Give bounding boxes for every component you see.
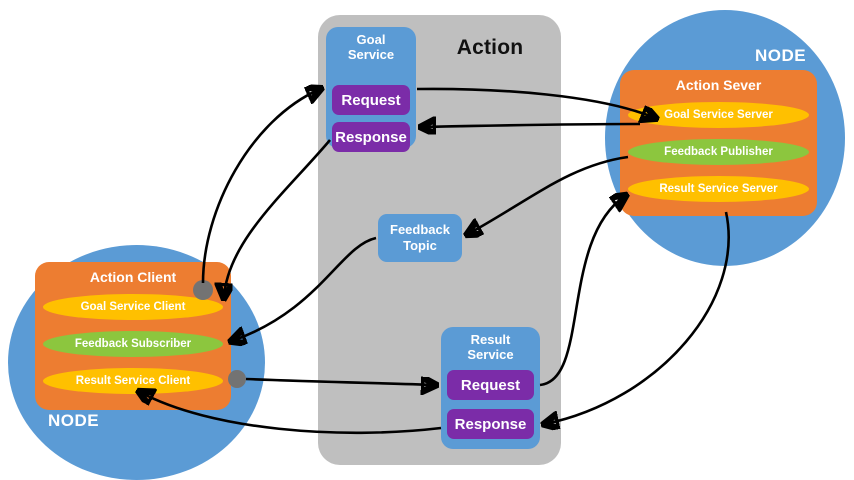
goal-service-server[interactable]: Goal Service Server bbox=[628, 102, 809, 128]
action-title: Action bbox=[430, 36, 550, 60]
goal-service-box: Goal Service Request Response bbox=[326, 27, 416, 148]
diagram-canvas: Action NODE Action Client Goal Service C… bbox=[0, 0, 854, 480]
action-server-title: Action Sever bbox=[620, 77, 817, 93]
result-client-connector-dot bbox=[228, 370, 246, 388]
result-service-title: Result Service bbox=[441, 332, 540, 363]
result-service-box: Result Service Request Response bbox=[441, 327, 540, 449]
goal-service-title-line2: Service bbox=[348, 47, 394, 62]
result-service-title-line1: Result bbox=[471, 332, 511, 347]
goal-service-request[interactable]: Request bbox=[332, 85, 410, 115]
goal-service-title-line1: Goal bbox=[357, 32, 386, 47]
feedback-topic-line2: Topic bbox=[403, 238, 437, 254]
result-service-client[interactable]: Result Service Client bbox=[43, 368, 223, 394]
feedback-publisher[interactable]: Feedback Publisher bbox=[628, 139, 809, 165]
goal-client-connector-dot bbox=[193, 280, 213, 300]
client-node-label: NODE bbox=[48, 411, 99, 431]
arrow-goal-response-to-client bbox=[224, 140, 330, 297]
result-service-request[interactable]: Request bbox=[447, 370, 534, 400]
feedback-topic-box[interactable]: Feedback Topic bbox=[378, 214, 462, 262]
result-service-title-line2: Service bbox=[467, 347, 513, 362]
feedback-topic-line1: Feedback bbox=[390, 222, 450, 238]
feedback-subscriber[interactable]: Feedback Subscriber bbox=[43, 331, 223, 357]
server-node-label: NODE bbox=[755, 46, 806, 66]
arrow-goal-client-to-request bbox=[203, 89, 320, 283]
action-server-box: Action Sever Goal Service Server Feedbac… bbox=[620, 70, 817, 216]
goal-service-title: Goal Service bbox=[326, 32, 416, 63]
result-service-server[interactable]: Result Service Server bbox=[628, 176, 809, 202]
goal-service-response[interactable]: Response bbox=[332, 122, 410, 152]
result-service-response[interactable]: Response bbox=[447, 409, 534, 439]
